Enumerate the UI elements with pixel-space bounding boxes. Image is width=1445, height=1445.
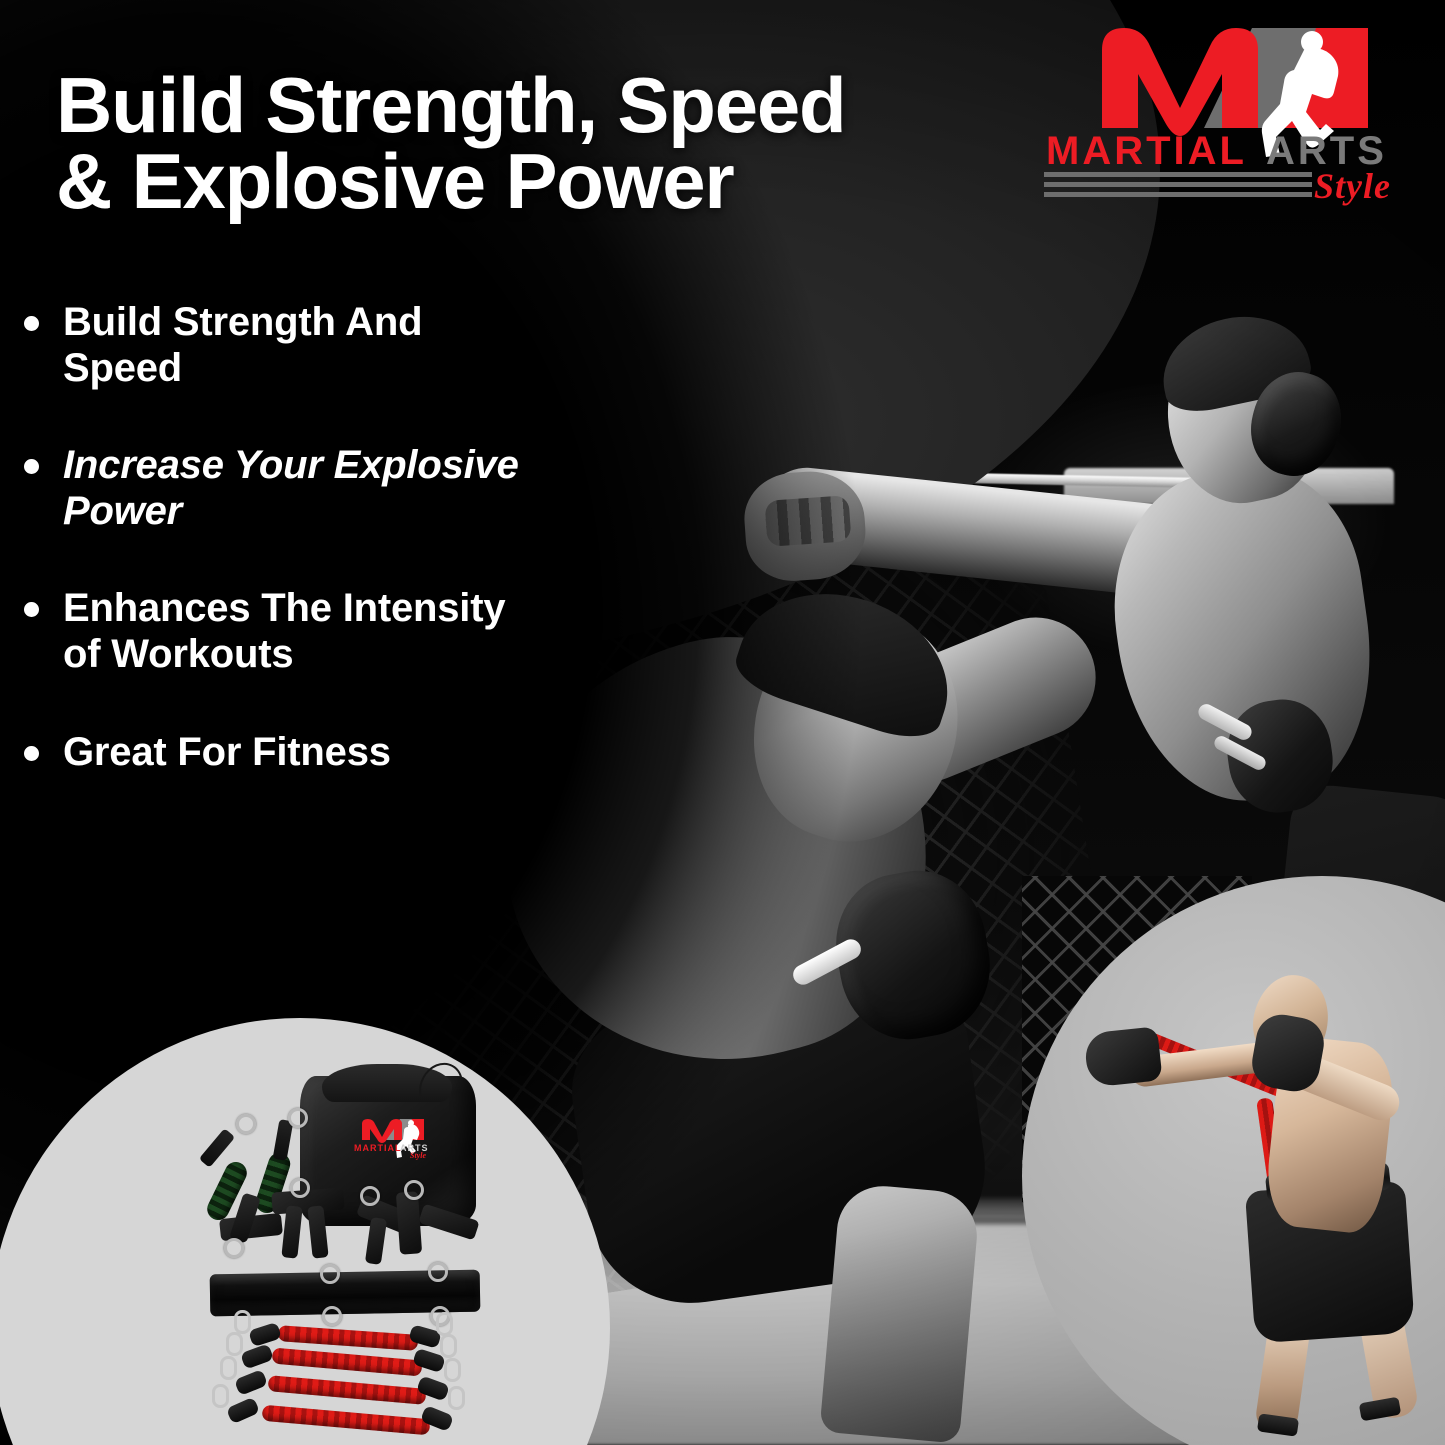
feature-bullet-list: Build Strength And Speed Increase Your E… bbox=[14, 300, 534, 827]
d-ring bbox=[322, 1306, 342, 1326]
bullet-dot-icon bbox=[24, 316, 39, 331]
logo-word-style: Style bbox=[1314, 166, 1391, 206]
logo-letter-m bbox=[1102, 28, 1258, 136]
list-item: Increase Your Explosive Power bbox=[14, 443, 534, 534]
list-item: Build Strength And Speed bbox=[14, 300, 534, 391]
bullet-dot-icon bbox=[24, 602, 39, 617]
list-item: Great For Fitness bbox=[14, 730, 534, 776]
d-ring bbox=[224, 1238, 244, 1258]
logo-stripe bbox=[1044, 182, 1312, 187]
bullet-text: Build Strength And Speed bbox=[63, 300, 534, 391]
bullet-text: Increase Your Explosive Power bbox=[63, 443, 534, 534]
d-ring bbox=[320, 1264, 340, 1284]
brand-logo[interactable]: MARTIAL ARTS Style bbox=[1016, 16, 1428, 212]
d-ring bbox=[404, 1180, 424, 1200]
bullet-text: Great For Fitness bbox=[63, 730, 391, 776]
ankle-strap bbox=[396, 1191, 422, 1254]
d-ring bbox=[236, 1114, 256, 1134]
page-title: Build Strength, Speed & Explosive Power bbox=[56, 68, 956, 219]
list-item: Enhances The Intensity of Workouts bbox=[14, 586, 534, 677]
d-ring bbox=[288, 1108, 308, 1128]
bullet-dot-icon bbox=[24, 746, 39, 761]
bullet-dot-icon bbox=[24, 459, 39, 474]
d-ring bbox=[360, 1186, 380, 1206]
product-marketing-banner: Build Strength, Speed & Explosive Power … bbox=[0, 0, 1445, 1445]
headline-line-2: & Explosive Power bbox=[56, 144, 956, 220]
d-ring bbox=[428, 1262, 448, 1282]
logo-stripe bbox=[1044, 192, 1312, 197]
demo-glove-jab bbox=[1083, 1026, 1162, 1087]
d-ring bbox=[290, 1178, 310, 1198]
carry-bag-logo: MARTIAL ARTS Style bbox=[344, 1116, 440, 1160]
svg-text:MARTIAL: MARTIAL bbox=[354, 1143, 402, 1153]
logo-word-martial: MARTIAL bbox=[1046, 129, 1247, 173]
bullet-text: Enhances The Intensity of Workouts bbox=[63, 586, 534, 677]
svg-text:Style: Style bbox=[410, 1151, 426, 1160]
logo-stripe bbox=[1044, 172, 1312, 177]
